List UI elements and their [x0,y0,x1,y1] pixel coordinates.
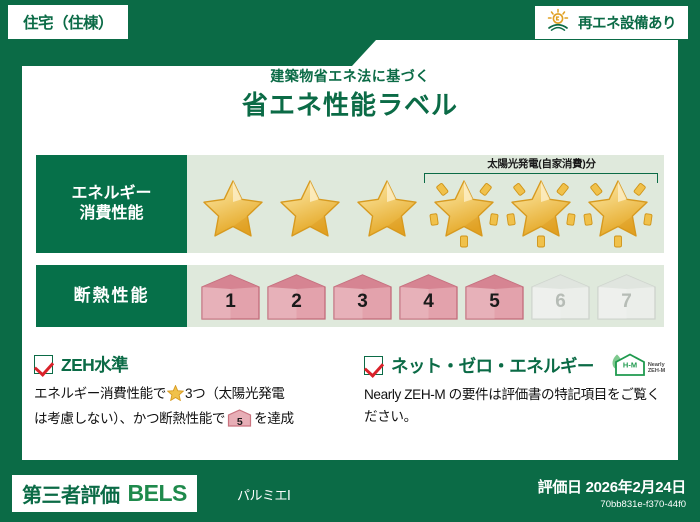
renewable-energy-label: 再エネ設備あり [578,12,676,33]
claim-nze-header: ネット・ゼロ・エネルギー H-M Nearly ZEH-M [364,352,668,378]
star-icon [349,175,426,249]
insulation-level-number: 6 [529,291,592,313]
insulation-performance-value: 1 2 3 4 5 [187,265,664,327]
star-icon-solar [503,175,580,249]
star-icon-solar [580,175,657,249]
inline-insulation-number: 5 [227,414,252,431]
evaluation-id: 70bb831e-f370-44f0 [538,499,686,510]
energy-performance-label: 住宅（住棟） 再エネ設備あり 建築物省エネ法に基づく 省エネ性能ラベル [0,0,700,522]
insulation-level-badge: 3 [331,273,394,321]
evaluation-date: 評価日 2026年2月24日 [538,476,686,497]
insulation-level-number: 5 [463,291,526,313]
footer-meta-block: 評価日 2026年2月24日 70bb831e-f370-44f0 [538,476,686,510]
page-title: 省エネ性能ラベル [0,85,700,122]
claim-zeh-text-1: エネルギー消費性能で [34,386,166,401]
solar-sun-icon [545,8,571,37]
check-icon [34,355,53,374]
label-subtitle: 建築物省エネ法に基づく [0,66,700,86]
third-party-label: 第三者評価 [22,479,120,508]
insulation-level-number: 7 [595,291,658,313]
insulation-level-number: 1 [199,291,262,313]
check-icon [364,356,383,375]
energy-key-line2: 消費性能 [79,204,143,224]
energy-performance-key: エネルギー 消費性能 [36,155,187,253]
insulation-level-badge: 2 [265,273,328,321]
insulation-level-number: 2 [265,291,328,313]
star-icon-solar [426,175,503,249]
zeh-m-logo-sub2: ZEH-M [648,369,665,375]
claim-zeh-body: エネルギー消費性能で 3つ（太陽光発電 は考慮しない）、かつ断熱性能で 5 を達… [34,383,334,430]
inline-insulation-badge: 5 [227,409,252,427]
building-name: パルミエⅠ [237,485,290,504]
zeh-m-logo: H-M Nearly ZEH-M [606,352,665,378]
inline-star-icon [167,385,184,408]
claim-zeh-header: ZEH水準 [34,352,334,377]
star-icon [272,175,349,249]
energy-performance-value: 太陽光発電(自家消費)分 [187,155,664,253]
star-icon [195,175,272,249]
building-type-tag: 住宅（住棟） [8,5,128,39]
insulation-level-badge: 5 [463,273,526,321]
insulation-level-badge: 1 [199,273,262,321]
zeh-m-logo-text: H-M [623,361,637,370]
insulation-performance-key: 断熱性能 [36,265,187,327]
footer-bels-block: 第三者評価 BELS [12,475,197,512]
claim-zeh-text-2: 3つ（太陽光発電 [185,386,285,401]
insulation-level-number: 4 [397,291,460,313]
insulation-level-badge: 4 [397,273,460,321]
claim-net-zero-energy: ネット・ゼロ・エネルギー H-M Nearly ZEH-M Nearly ZEH… [364,352,668,428]
star-rating [195,175,660,249]
claim-nze-title: ネット・ゼロ・エネルギー [391,353,594,378]
solar-bracket-caption: 太陽光発電(自家消費)分 [419,156,664,171]
energy-key-line1: エネルギー [71,184,151,204]
insulation-key-label: 断熱性能 [74,285,150,307]
building-type-label: 住宅（住棟） [23,11,113,33]
insulation-level-number: 3 [331,291,394,313]
insulation-level-scale: 1 2 3 4 5 [199,271,658,323]
claim-zeh-text-3: は考慮しない）、かつ断熱性能で [34,411,225,426]
bels-label: BELS [128,480,187,507]
energy-performance-row: エネルギー 消費性能 太陽光発電(自家消費)分 [36,155,664,253]
claim-nze-body: Nearly ZEH-M の要件は評価書の特記項目をご覧ください。 [364,384,668,428]
claim-zeh-text-4: を達成 [254,411,294,426]
insulation-level-badge: 7 [595,273,658,321]
insulation-level-badge: 6 [529,273,592,321]
claim-zeh-level: ZEH水準 エネルギー消費性能で 3つ（太陽光発電 は考慮しない）、かつ断熱性能… [34,352,334,430]
insulation-performance-row: 断熱性能 1 2 3 [36,265,664,327]
claim-zeh-title: ZEH水準 [61,352,128,377]
renewable-energy-badge: 再エネ設備あり [535,6,688,39]
